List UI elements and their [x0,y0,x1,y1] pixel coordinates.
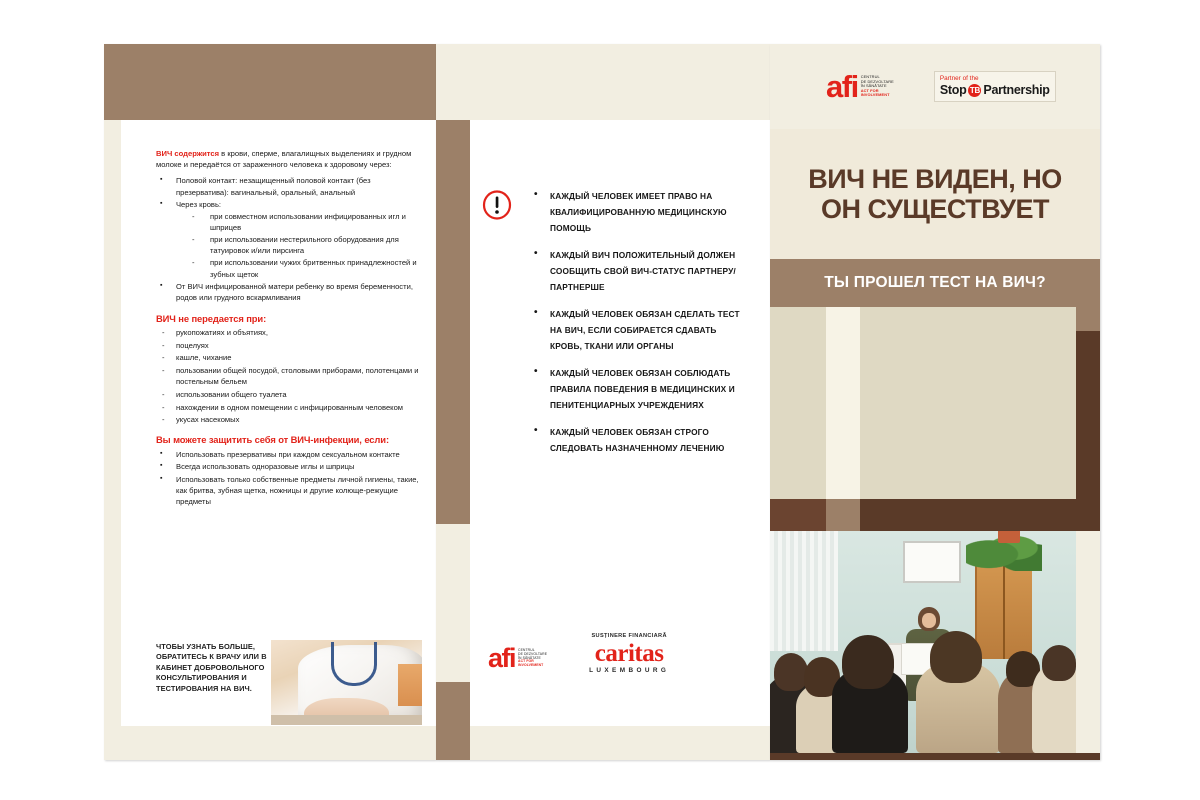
cover-subtitle-band: ТЫ ПРОШЕЛ ТЕСТ НА ВИЧ? [770,259,1100,307]
page-title-line2: ОН СУЩЕСТВУЕТ [770,194,1100,224]
afi-tagline: CENTRUL DE DEZVOLTARE ÎN SĂNĂTATE ACT FO… [861,75,894,97]
protect-heading: Вы можете защитить себя от ВИЧ-инфекции,… [156,434,420,445]
page-title-line1: ВИЧ НЕ ВИДЕН, НО [770,164,1100,194]
list-item: при использовании нестерильного оборудов… [176,234,420,256]
photo-plant-pot [998,531,1020,543]
call-to-action-text: ЧТОБЫ УЗНАТЬ БОЛЬШЕ, ОБРАТИТЕСЬ К ВРАЧУ … [156,640,269,694]
cover-footer-band [770,753,1100,760]
transmission-list: Половой контакт: незащищенный половой ко… [156,175,420,303]
list-item: пользовании общей посудой, столовыми при… [156,365,420,387]
afi-logo: afi CENTRUL DE DEZVOLTARE ÎN SĂNĂTATE AC… [826,69,894,105]
list-item: укусах насекомых [156,414,420,425]
list-item: КАЖДЫЙ ЧЕЛОВЕК ОБЯЗАН СДЕЛАТЬ ТЕСТ НА ВИ… [532,306,742,354]
cover-title-zone: ВИЧ НЕ ВИДЕН, НО ОН СУЩЕСТВУЕТ [770,129,1100,259]
list-item: Использовать презервативы при каждом сек… [156,449,420,460]
list-item: Половой контакт: незащищенный половой ко… [156,175,420,197]
photo-person-head [1042,645,1076,681]
caritas-logo: SUSȚINERE FINANCIARĂ caritas LUXEMBOURG [589,633,669,674]
cover-block-light-stripe [826,307,860,499]
transmission-sublist: при совместном использовании инфицирован… [176,211,420,280]
cover-photo-group-session [770,531,1076,753]
list-item: при совместном использовании инфицирован… [176,211,420,233]
stethoscope-icon [331,642,376,686]
stop-tb-partnership-logo: Partner of the Stop TB Partnership [934,71,1056,102]
left-panel-top-band [104,44,436,120]
panel-left-inside: ВИЧ содержится в крови, сперме, влагалищ… [104,44,436,760]
list-item: КАЖДЫЙ ЧЕЛОВЕК ИМЕЕТ ПРАВО НА КВАЛИФИЦИР… [532,188,742,236]
list-item: КАЖДЫЙ ВИЧ ПОЛОЖИТЕЛЬНЫЙ ДОЛЖЕН СООБЩИТЬ… [532,247,742,295]
photo-whiteboard [903,541,961,583]
stop-tb-lockup: Stop TB Partnership [940,83,1050,97]
caritas-support-label: SUSȚINERE FINANCIARĂ [589,633,669,639]
photo-person-head [842,635,894,689]
photo-desk-right [398,664,422,707]
list-item: рукопожатиях и объятиях, [156,327,420,338]
cover-header: afi CENTRUL DE DEZVOLTARE ÎN SĂNĂTATE AC… [770,44,1100,129]
afi-wordmark: afi [826,69,858,105]
protect-list: Использовать презервативы при каждом сек… [156,449,420,508]
cover-block-beige [770,307,1076,499]
transmission-item-text: Через кровь: [176,200,221,209]
cover-block-lower-brown-left [770,499,826,531]
afi-tagline-line5: INVOLVEMENT [518,663,543,667]
not-transmitted-heading: ВИЧ не передается при: [156,313,420,324]
list-item: КАЖДЫЙ ЧЕЛОВЕК ОБЯЗАН СТРОГО СЛЕДОВАТЬ Н… [532,424,742,456]
panel-right-cover: afi CENTRUL DE DEZVOLTARE ÎN SĂNĂTATE AC… [770,44,1100,760]
list-item: использовании общего туалета [156,389,420,400]
transmission-item-text: Половой контакт: незащищенный половой ко… [176,176,371,196]
cover-block-lower-tan [826,499,860,531]
list-item: Использовать только собственные предметы… [156,474,420,508]
afi-tagline: CENTRUL DE DEZVOLTARE ÎN SĂNĂTATE ACT FO… [518,649,547,669]
list-item: Всегда использовать одноразовые иглы и ш… [156,461,420,472]
middle-panel-left-band [436,120,470,524]
brochure-canvas: ВИЧ содержится в крови, сперме, влагалищ… [0,0,1200,800]
tb-badge-icon: TB [968,84,981,97]
left-panel-footer: ЧТОБЫ УЗНАТЬ БОЛЬШЕ, ОБРАТИТЕСЬ К ВРАЧУ … [156,640,422,726]
stop-tb-stop-word: Stop [940,83,967,97]
photo-desk-bottom [271,715,422,725]
afi-wordmark: afi [488,643,515,674]
lead-paragraph: ВИЧ содержится в крови, сперме, влагалищ… [156,148,420,170]
panel-middle-inside: КАЖДЫЙ ЧЕЛОВЕК ИМЕЕТ ПРАВО НА КВАЛИФИЦИР… [436,44,770,760]
photo-person-head [930,631,982,683]
list-item: Через кровь: при совместном использовани… [156,199,420,279]
list-item: поцелуях [156,340,420,351]
exclamation-circle-icon [482,190,512,220]
rights-list: КАЖДЫЙ ЧЕЛОВЕК ИМЕЕТ ПРАВО НА КВАЛИФИЦИР… [532,188,742,467]
list-item: нахождении в одном помещении с инфициров… [156,402,420,413]
stop-tb-partnership-word: Partnership [983,83,1049,97]
afi-logo: afi CENTRUL DE DEZVOLTARE ÎN SĂNĂTATE AC… [488,643,547,674]
afi-tagline-line5: INVOLVEMENT [861,92,890,97]
not-transmitted-list: рукопожатиях и объятиях, поцелуях кашле,… [156,327,420,426]
list-item: От ВИЧ инфицированной матери ребенку во … [156,281,420,303]
doctor-photo [271,640,422,725]
photo-audience [770,641,1076,753]
list-item: КАЖДЫЙ ЧЕЛОВЕК ОБЯЗАН СОБЛЮДАТЬ ПРАВИЛА … [532,365,742,413]
caritas-wordmark: caritas [589,642,669,666]
transmission-item-text: От ВИЧ инфицированной матери ребенку во … [176,282,413,302]
middle-panel-logos: afi CENTRUL DE DEZVOLTARE ÎN SĂNĂTATE AC… [488,633,748,674]
cover-side-strip-tan [1076,307,1100,331]
cover-subtitle: ТЫ ПРОШЕЛ ТЕСТ НА ВИЧ? [824,274,1046,292]
photo-curtain [770,531,838,651]
photo-person-head [774,653,808,691]
photo-presenter-face [922,613,936,628]
list-item: кашле, чихание [156,352,420,363]
stop-tb-partner-label: Partner of the [940,75,1050,82]
left-panel-content: ВИЧ содержится в крови, сперме, влагалищ… [156,148,420,509]
caritas-city: LUXEMBOURG [589,667,669,674]
lead-highlight: ВИЧ содержится [156,149,219,158]
middle-panel-bottom-band [436,682,470,760]
list-item: при использовании чужих бритвенных прина… [176,257,420,279]
